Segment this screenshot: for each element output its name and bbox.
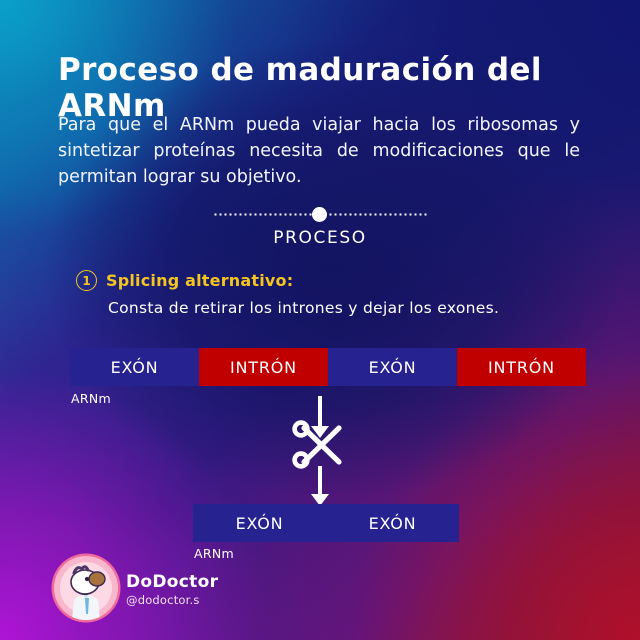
infographic-canvas: Proceso de maduración del ARNm Para que …	[0, 0, 640, 640]
step-heading: 1 Splicing alternativo:	[76, 270, 293, 291]
brand-name: DoDoctor	[126, 572, 218, 592]
pre-mrna-label: ARNm	[71, 391, 111, 406]
segment-exon: EXÓN	[328, 348, 457, 386]
segment-intron: INTRÓN	[457, 348, 586, 386]
mature-mrna-bar: EXÓN EXÓN	[193, 504, 459, 542]
arrow-shaft-bottom	[318, 466, 322, 496]
section-divider	[0, 205, 640, 225]
segment-exon: EXÓN	[193, 504, 326, 542]
segment-intron: INTRÓN	[199, 348, 328, 386]
pre-mrna-bar: EXÓN INTRÓN EXÓN INTRÓN	[70, 348, 586, 386]
segment-exon: EXÓN	[70, 348, 199, 386]
step-description: Consta de retirar los intrones y dejar l…	[108, 299, 578, 317]
step-number-badge: 1	[76, 270, 97, 291]
scissors-icon	[291, 418, 349, 470]
segment-exon: EXÓN	[326, 504, 459, 542]
divider-label: PROCESO	[0, 228, 640, 248]
page-subtitle: Para que el ARNm pueda viajar hacia los …	[58, 112, 580, 190]
divider-dot-icon	[312, 207, 327, 222]
brand-handle: @dodoctor.s	[126, 593, 200, 607]
step-title: Splicing alternativo:	[106, 271, 293, 290]
brand-logo-icon	[54, 556, 118, 620]
mature-mrna-label: ARNm	[194, 546, 234, 561]
